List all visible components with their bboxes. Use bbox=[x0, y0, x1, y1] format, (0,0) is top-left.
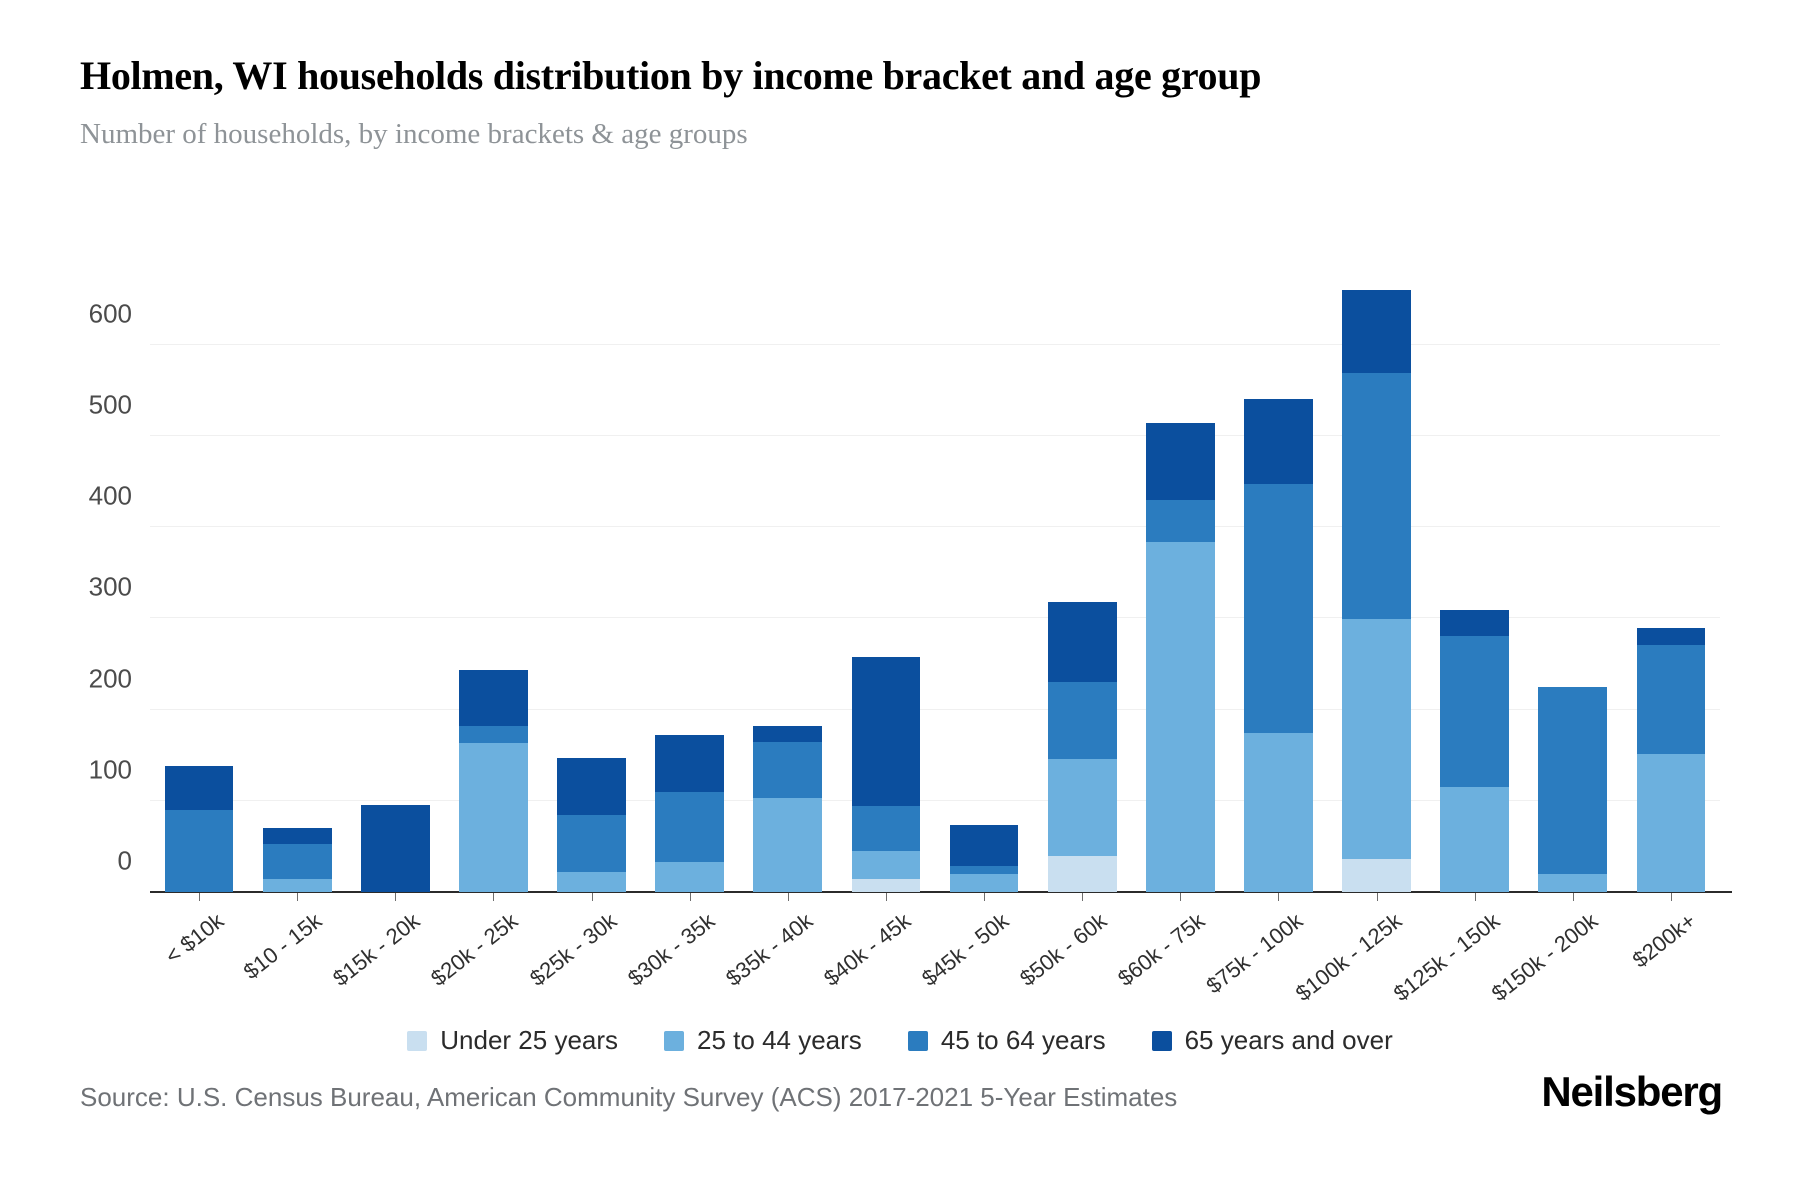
bar-segment[interactable] bbox=[852, 851, 921, 879]
x-axis-tickmark bbox=[1180, 893, 1181, 901]
legend-label: Under 25 years bbox=[440, 1025, 618, 1056]
bar-segment[interactable] bbox=[263, 844, 332, 880]
y-axis-tick-label: 400 bbox=[89, 481, 132, 512]
x-axis-tick-label: < $10k bbox=[161, 908, 230, 970]
bar-stack[interactable] bbox=[361, 805, 430, 892]
legend-swatch-icon bbox=[908, 1031, 928, 1051]
bar-segment[interactable] bbox=[1637, 645, 1706, 754]
bar-segment[interactable] bbox=[263, 828, 332, 844]
bar-segment[interactable] bbox=[852, 657, 921, 807]
x-axis-tickmark bbox=[199, 893, 200, 901]
bar-segment[interactable] bbox=[1048, 602, 1117, 682]
y-axis-tick-label: 600 bbox=[89, 298, 132, 329]
bar-stack[interactable] bbox=[1440, 610, 1509, 892]
plot-area: 0100200300400500600 < $10k$10 - 15k$15k … bbox=[150, 290, 1720, 892]
x-axis-tick-label: $125k - 150k bbox=[1388, 908, 1504, 1007]
x-axis-tick-label: $25k - 30k bbox=[525, 908, 622, 992]
bar-segment[interactable] bbox=[361, 805, 430, 892]
bar-stack[interactable] bbox=[1637, 628, 1706, 892]
x-axis-tickmark bbox=[1278, 893, 1279, 901]
bar-segment[interactable] bbox=[1637, 754, 1706, 892]
x-axis-tick-label: $100k - 125k bbox=[1290, 908, 1406, 1007]
bar-stack[interactable] bbox=[1538, 687, 1607, 892]
x-axis-tick-label: $30k - 35k bbox=[623, 908, 720, 992]
bar-segment[interactable] bbox=[263, 879, 332, 892]
bar-segment[interactable] bbox=[1440, 787, 1509, 892]
bar-stack[interactable] bbox=[1048, 602, 1117, 892]
bar-segment[interactable] bbox=[950, 866, 1019, 873]
bar-segment[interactable] bbox=[1637, 628, 1706, 644]
bar-segment[interactable] bbox=[1048, 682, 1117, 759]
bar-segment[interactable] bbox=[655, 792, 724, 862]
legend-label: 45 to 64 years bbox=[941, 1025, 1106, 1056]
bar-segment[interactable] bbox=[1146, 500, 1215, 542]
x-axis-tickmark bbox=[297, 893, 298, 901]
x-axis-tick-label: $50k - 60k bbox=[1015, 908, 1112, 992]
bar-segment[interactable] bbox=[1342, 373, 1411, 619]
bar-segment[interactable] bbox=[1342, 290, 1411, 373]
bar-segment[interactable] bbox=[1538, 687, 1607, 874]
bar-stack[interactable] bbox=[557, 758, 626, 892]
chart-page: Holmen, WI households distribution by in… bbox=[0, 0, 1800, 1200]
bar-segment[interactable] bbox=[1146, 423, 1215, 500]
x-axis-tickmark bbox=[984, 893, 985, 901]
bar-stack[interactable] bbox=[165, 766, 234, 892]
x-axis-tickmark bbox=[886, 893, 887, 901]
y-axis-tick-label: 0 bbox=[118, 846, 132, 877]
bar-segment[interactable] bbox=[557, 758, 626, 815]
bar-segment[interactable] bbox=[1342, 859, 1411, 892]
y-axis-tick-label: 200 bbox=[89, 663, 132, 694]
bar-stack[interactable] bbox=[852, 657, 921, 892]
x-axis-tick-label: $15k - 20k bbox=[328, 908, 425, 992]
x-axis-tickmark bbox=[690, 893, 691, 901]
bar-segment[interactable] bbox=[459, 670, 528, 726]
x-axis-tick-label: $40k - 45k bbox=[819, 908, 916, 992]
bar-stack[interactable] bbox=[753, 726, 822, 892]
bar-series-group bbox=[150, 290, 1720, 892]
page-subtitle: Number of households, by income brackets… bbox=[80, 118, 748, 151]
brand-logo: Neilsberg bbox=[1541, 1068, 1722, 1116]
x-axis-tickmark bbox=[1377, 893, 1378, 901]
bar-segment[interactable] bbox=[655, 735, 724, 792]
y-axis-tick-label: 100 bbox=[89, 754, 132, 785]
legend-item[interactable]: 45 to 64 years bbox=[908, 1025, 1106, 1056]
x-axis-tick-label: $60k - 75k bbox=[1113, 908, 1210, 992]
x-axis-tickmark bbox=[395, 893, 396, 901]
bar-stack[interactable] bbox=[950, 825, 1019, 892]
bar-segment[interactable] bbox=[1244, 399, 1313, 485]
bar-stack[interactable] bbox=[459, 670, 528, 892]
bar-stack[interactable] bbox=[263, 828, 332, 892]
bar-segment[interactable] bbox=[1440, 636, 1509, 787]
source-note: Source: U.S. Census Bureau, American Com… bbox=[80, 1082, 1177, 1113]
bar-stack[interactable] bbox=[655, 735, 724, 892]
bar-segment[interactable] bbox=[1048, 759, 1117, 857]
x-axis-tick-label: $35k - 40k bbox=[721, 908, 818, 992]
bar-stack[interactable] bbox=[1342, 290, 1411, 892]
bar-segment[interactable] bbox=[165, 810, 234, 892]
page-title: Holmen, WI households distribution by in… bbox=[80, 52, 1261, 99]
bar-segment[interactable] bbox=[1244, 484, 1313, 733]
legend-item[interactable]: Under 25 years bbox=[407, 1025, 618, 1056]
bar-segment[interactable] bbox=[1342, 619, 1411, 859]
legend-label: 65 years and over bbox=[1185, 1025, 1393, 1056]
bar-segment[interactable] bbox=[950, 825, 1019, 866]
bar-segment[interactable] bbox=[1244, 733, 1313, 892]
y-axis-tick-label: 300 bbox=[89, 572, 132, 603]
y-axis-tick-label: 500 bbox=[89, 389, 132, 420]
bar-stack[interactable] bbox=[1146, 423, 1215, 892]
x-axis-tickmark bbox=[788, 893, 789, 901]
bar-segment[interactable] bbox=[655, 862, 724, 892]
bar-segment[interactable] bbox=[753, 798, 822, 892]
bar-segment[interactable] bbox=[165, 766, 234, 810]
bar-segment[interactable] bbox=[1538, 874, 1607, 892]
x-axis-tickmark bbox=[1671, 893, 1672, 901]
x-axis-tick-label: $150k - 200k bbox=[1487, 908, 1603, 1007]
bar-segment[interactable] bbox=[459, 726, 528, 743]
bar-segment[interactable] bbox=[557, 872, 626, 892]
bar-segment[interactable] bbox=[557, 815, 626, 872]
x-axis-tickmark bbox=[1573, 893, 1574, 901]
legend-item[interactable]: 65 years and over bbox=[1152, 1025, 1393, 1056]
x-axis-tickmark bbox=[1082, 893, 1083, 901]
bar-segment[interactable] bbox=[459, 743, 528, 892]
bar-segment[interactable] bbox=[753, 742, 822, 799]
legend-item[interactable]: 25 to 44 years bbox=[664, 1025, 862, 1056]
x-axis-tick-label: $45k - 50k bbox=[917, 908, 1014, 992]
legend-label: 25 to 44 years bbox=[697, 1025, 862, 1056]
bar-segment[interactable] bbox=[950, 874, 1019, 892]
bar-segment[interactable] bbox=[1146, 542, 1215, 892]
x-axis-tickmark bbox=[592, 893, 593, 901]
bar-segment[interactable] bbox=[852, 879, 921, 892]
x-axis-tick-label: $10 - 15k bbox=[239, 908, 327, 985]
legend-swatch-icon bbox=[1152, 1031, 1172, 1051]
x-axis-tick-label: $20k - 25k bbox=[426, 908, 523, 992]
bar-stack[interactable] bbox=[1244, 399, 1313, 892]
legend-swatch-icon bbox=[407, 1031, 427, 1051]
bar-segment[interactable] bbox=[852, 806, 921, 851]
x-axis-tick-label: $200k+ bbox=[1628, 908, 1701, 973]
x-axis-tickmark bbox=[493, 893, 494, 901]
bar-segment[interactable] bbox=[1048, 856, 1117, 892]
bar-segment[interactable] bbox=[753, 726, 822, 742]
legend-swatch-icon bbox=[664, 1031, 684, 1051]
bar-segment[interactable] bbox=[1440, 610, 1509, 636]
x-axis-tickmark bbox=[1475, 893, 1476, 901]
chart-legend: Under 25 years25 to 44 years45 to 64 yea… bbox=[0, 1025, 1800, 1056]
